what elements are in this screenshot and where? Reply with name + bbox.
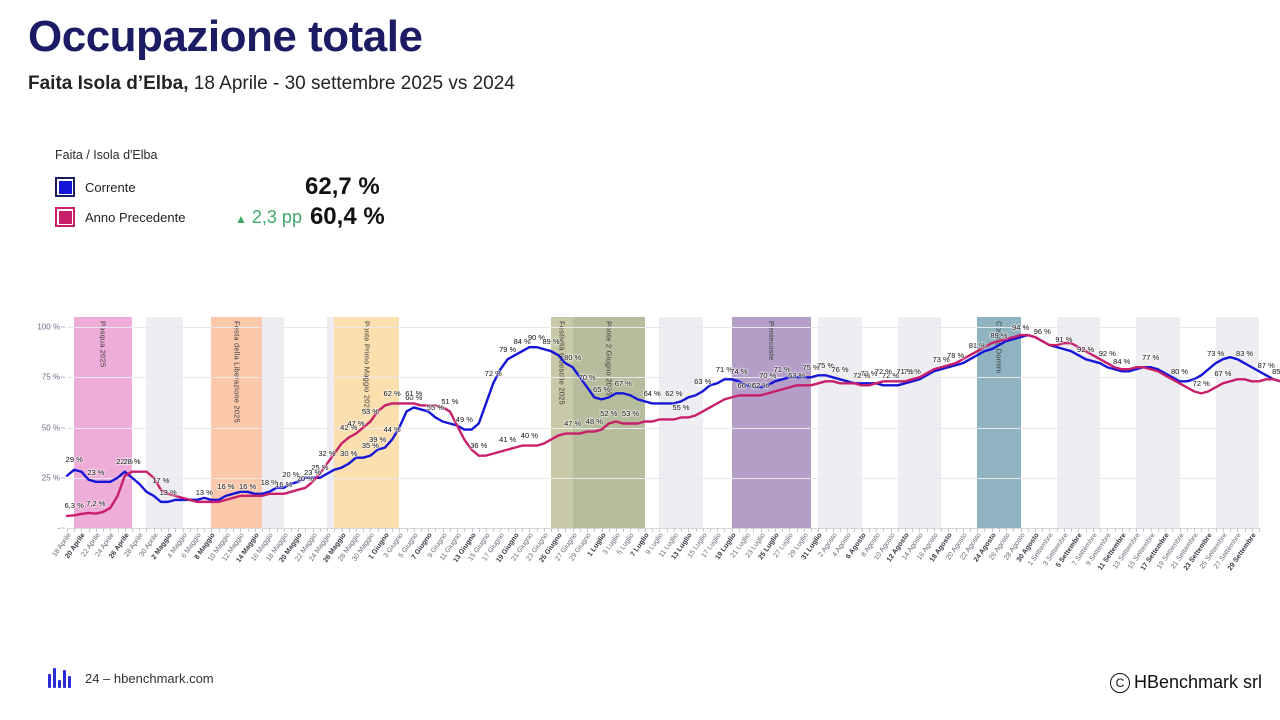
legend-title: Faita / Isola d'Elba xyxy=(55,148,385,162)
data-point-label: 64 % xyxy=(644,389,661,398)
x-tick-mark xyxy=(349,528,350,532)
data-point-label: 77 % xyxy=(1142,353,1159,362)
x-tick-mark xyxy=(1057,528,1058,532)
data-point-label: 92 % xyxy=(1077,345,1094,354)
data-point-label: 39 % xyxy=(369,435,386,444)
x-tick-mark xyxy=(81,528,82,532)
data-point-label: 13 % xyxy=(196,488,213,497)
legend-swatch-anno-precedente-icon xyxy=(55,207,75,227)
x-tick-mark xyxy=(1259,528,1260,532)
y-tick-mark xyxy=(61,477,65,478)
x-tick-mark xyxy=(211,528,212,532)
x-tick-mark xyxy=(421,528,422,532)
footer-right: C HBenchmark srl xyxy=(1110,672,1262,693)
y-tick-mark xyxy=(61,377,65,378)
x-tick-mark xyxy=(407,528,408,532)
x-tick-mark xyxy=(132,528,133,532)
data-point-label: 32 % xyxy=(319,449,336,458)
data-point-label: 16 % xyxy=(239,482,256,491)
data-point-label: 48 % xyxy=(586,417,603,426)
subtitle-daterange: 18 Aprile - 30 settembre 2025 vs 2024 xyxy=(189,73,515,94)
x-tick-mark xyxy=(681,528,682,532)
x-tick-mark xyxy=(898,528,899,532)
footer-company-name: HBenchmark srl xyxy=(1134,672,1262,693)
data-point-label: 85 % xyxy=(1272,367,1280,376)
x-tick-mark xyxy=(450,528,451,532)
data-point-label: 76 % xyxy=(831,365,848,374)
x-tick-mark xyxy=(1013,528,1014,532)
x-tick-mark xyxy=(74,528,75,532)
data-point-label: 13 % xyxy=(160,488,177,497)
x-tick-mark xyxy=(753,528,754,532)
x-tick-mark xyxy=(435,528,436,532)
x-tick-mark xyxy=(797,528,798,532)
x-tick-mark xyxy=(1129,528,1130,532)
x-tick-mark xyxy=(305,528,306,532)
x-tick-mark xyxy=(551,528,552,532)
legend-item-anno-precedente[interactable]: Anno Precedente ▲ 2,3 pp 60,4 % xyxy=(55,202,385,232)
x-tick-mark xyxy=(1158,528,1159,532)
data-point-label: 70 % xyxy=(579,373,596,382)
data-point-label: 80 % xyxy=(564,353,581,362)
data-point-label: 23 % xyxy=(304,468,321,477)
data-point-label: 29 % xyxy=(66,455,83,464)
x-tick-mark xyxy=(594,528,595,532)
x-tick-mark xyxy=(190,528,191,532)
x-tick-mark xyxy=(840,528,841,532)
x-axis-line xyxy=(67,528,1259,529)
data-point-label: 47 % xyxy=(347,419,364,428)
x-tick-mark xyxy=(161,528,162,532)
delta-text: 2,3 pp xyxy=(252,207,302,227)
x-tick-mark xyxy=(768,528,769,532)
x-tick-mark xyxy=(118,528,119,532)
x-tick-mark xyxy=(710,528,711,532)
data-point-label: 16 % xyxy=(275,480,292,489)
x-tick-mark xyxy=(638,528,639,532)
x-tick-mark xyxy=(789,528,790,532)
data-point-label: 61 % xyxy=(405,389,422,398)
x-tick-mark xyxy=(522,528,523,532)
data-point-label: 72 % xyxy=(853,371,870,380)
data-point-label: 53 % xyxy=(622,409,639,418)
x-tick-mark xyxy=(580,528,581,532)
x-tick-mark xyxy=(248,528,249,532)
data-point-label: 41 % xyxy=(499,435,516,444)
bar-chart-logo-icon xyxy=(48,668,73,688)
x-tick-mark xyxy=(1071,528,1072,532)
x-tick-mark xyxy=(919,528,920,532)
data-point-label: 52 % xyxy=(600,409,617,418)
legend-item-corrente[interactable]: Corrente 62,7 % xyxy=(55,172,385,202)
data-point-label: 6,3 % xyxy=(65,501,84,510)
x-tick-mark xyxy=(1028,528,1029,532)
x-tick-mark xyxy=(565,528,566,532)
x-tick-mark xyxy=(291,528,292,532)
data-point-label: 65 % xyxy=(593,385,610,394)
x-tick-mark xyxy=(883,528,884,532)
x-tick-mark xyxy=(927,528,928,532)
x-tick-mark xyxy=(1115,528,1116,532)
y-tick-mark xyxy=(61,528,65,529)
x-tick-mark xyxy=(103,528,104,532)
footer-left: 24 – hbenchmark.com xyxy=(48,668,214,688)
x-tick-mark xyxy=(1201,528,1202,532)
data-point-label: 72 % xyxy=(485,369,502,378)
data-point-label: 17 % xyxy=(152,476,169,485)
data-point-label: 62 % xyxy=(752,381,769,390)
y-tick-label: 25 % xyxy=(42,473,60,482)
data-point-label: 92 % xyxy=(1099,349,1116,358)
x-tick-mark xyxy=(1230,528,1231,532)
x-tick-mark xyxy=(262,528,263,532)
data-point-label: 63 % xyxy=(788,371,805,380)
delta-up-arrow-icon: ▲ xyxy=(235,212,247,226)
x-tick-mark xyxy=(537,528,538,532)
x-tick-mark xyxy=(89,528,90,532)
data-point-label: 40 % xyxy=(521,431,538,440)
occupancy-line-chart[interactable]: Pasqua 2025Festa della Liberazione 2025P… xyxy=(20,305,1265,560)
x-tick-mark xyxy=(1100,528,1101,532)
x-tick-mark xyxy=(1245,528,1246,532)
chart-plot-area[interactable]: Pasqua 2025Festa della Liberazione 2025P… xyxy=(67,317,1259,528)
data-point-label: 89 % xyxy=(990,331,1007,340)
x-tick-mark xyxy=(493,528,494,532)
data-point-label: 91 % xyxy=(1055,335,1072,344)
legend-swatch-corrente-icon xyxy=(55,177,75,197)
x-tick-mark xyxy=(739,528,740,532)
x-tick-mark xyxy=(652,528,653,532)
x-tick-mark xyxy=(854,528,855,532)
x-tick-mark xyxy=(1049,528,1050,532)
legend-label-corrente: Corrente xyxy=(85,180,235,195)
data-point-label: 23 % xyxy=(87,468,104,477)
x-tick-mark xyxy=(869,528,870,532)
x-tick-mark xyxy=(219,528,220,532)
x-tick-mark xyxy=(320,528,321,532)
data-point-label: 94 % xyxy=(1012,323,1029,332)
data-point-label: 89 % xyxy=(542,337,559,346)
legend-value-corrente: 62,7 % xyxy=(305,173,380,201)
data-point-label: 72 % xyxy=(1193,379,1210,388)
x-tick-mark xyxy=(667,528,668,532)
x-tick-mark xyxy=(392,528,393,532)
x-tick-mark xyxy=(941,528,942,532)
x-tick-mark xyxy=(204,528,205,532)
x-tick-mark xyxy=(826,528,827,532)
subtitle: Faita Isola d’Elba, 18 Aprile - 30 sette… xyxy=(28,74,515,95)
x-tick-mark xyxy=(912,528,913,532)
x-tick-mark xyxy=(146,528,147,532)
x-tick-mark xyxy=(1187,528,1188,532)
x-tick-mark xyxy=(609,528,610,532)
y-tick-mark xyxy=(61,327,65,328)
x-tick-mark xyxy=(378,528,379,532)
data-point-label: 49 % xyxy=(456,415,473,424)
legend-delta: ▲ 2,3 pp xyxy=(235,207,302,228)
data-point-label: 55 % xyxy=(672,403,689,412)
data-point-label: 67 % xyxy=(615,379,632,388)
x-tick-mark xyxy=(956,528,957,532)
data-point-label: 30 % xyxy=(340,449,357,458)
x-tick-mark xyxy=(623,528,624,532)
data-point-label: 28 % xyxy=(123,457,140,466)
data-point-label: 36 % xyxy=(470,441,487,450)
data-point-label: 79 % xyxy=(499,345,516,354)
data-point-label: 16 % xyxy=(217,482,234,491)
x-tick-mark xyxy=(1143,528,1144,532)
x-tick-mark xyxy=(175,528,176,532)
legend-value-anno-precedente: 60,4 % xyxy=(310,203,385,231)
data-point-label: 51 % xyxy=(441,397,458,406)
data-point-label: 72 % xyxy=(875,367,892,376)
x-tick-mark xyxy=(696,528,697,532)
x-tick-mark xyxy=(500,528,501,532)
chart-legend: Faita / Isola d'Elba Corrente 62,7 % Ann… xyxy=(55,148,385,232)
x-tick-mark xyxy=(334,528,335,532)
data-point-label: 81 % xyxy=(969,341,986,350)
data-point-label: 62 % xyxy=(384,389,401,398)
x-tick-mark xyxy=(1042,528,1043,532)
x-tick-mark xyxy=(277,528,278,532)
x-tick-mark xyxy=(508,528,509,532)
data-point-label: 67 % xyxy=(1214,369,1231,378)
y-tick-label: - xyxy=(57,524,60,533)
x-tick-mark xyxy=(999,528,1000,532)
copyright-icon: C xyxy=(1110,673,1130,693)
x-tick-mark xyxy=(464,528,465,532)
data-point-label: 71 % xyxy=(896,367,913,376)
data-point-label: 44 % xyxy=(384,425,401,434)
footer-page-and-site: 24 – hbenchmark.com xyxy=(85,671,214,686)
data-point-label: 80 % xyxy=(1171,367,1188,376)
data-point-label: 47 % xyxy=(564,419,581,428)
data-point-label: 74 % xyxy=(730,367,747,376)
data-point-label: 96 % xyxy=(1034,327,1051,336)
data-point-label: 73 % xyxy=(1207,349,1224,358)
y-tick-label: 50 % xyxy=(42,423,60,432)
x-tick-mark xyxy=(233,528,234,532)
data-point-label: 83 % xyxy=(1236,349,1253,358)
y-tick-label: 100 % xyxy=(37,323,60,332)
x-tick-mark xyxy=(724,528,725,532)
x-tick-mark xyxy=(984,528,985,532)
data-point-label: 7,2 % xyxy=(86,499,105,508)
x-tick-mark xyxy=(811,528,812,532)
header: Occupazione totale Faita Isola d’Elba, 1… xyxy=(28,14,515,95)
data-point-label: 84 % xyxy=(1113,357,1130,366)
x-tick-mark xyxy=(782,528,783,532)
x-tick-mark xyxy=(1086,528,1087,532)
x-tick-mark xyxy=(1216,528,1217,532)
data-point-label: 53 % xyxy=(362,407,379,416)
y-tick-mark xyxy=(61,427,65,428)
x-tick-mark xyxy=(1172,528,1173,532)
data-point-label: 78 % xyxy=(947,351,964,360)
x-tick-mark xyxy=(479,528,480,532)
data-point-label: 62 % xyxy=(665,389,682,398)
legend-label-anno-precedente: Anno Precedente xyxy=(85,210,235,225)
x-tick-mark xyxy=(363,528,364,532)
page-title: Occupazione totale xyxy=(28,14,515,60)
data-point-label: 63 % xyxy=(694,377,711,386)
x-tick-mark xyxy=(970,528,971,532)
y-tick-label: 75 % xyxy=(42,373,60,382)
subtitle-property: Faita Isola d’Elba, xyxy=(28,73,189,94)
